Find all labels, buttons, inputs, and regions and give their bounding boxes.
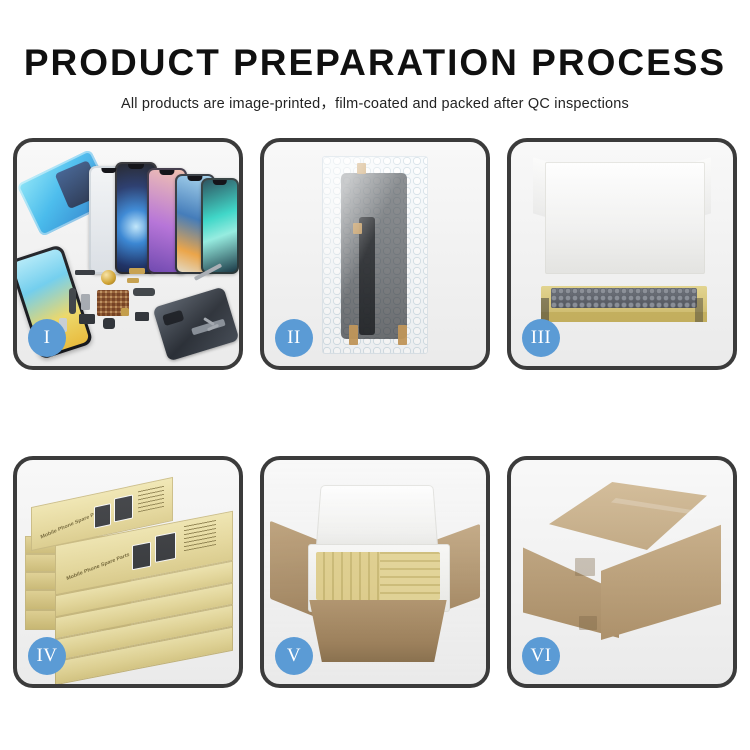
speaker-icon	[103, 318, 115, 329]
process-step-grid: I II	[13, 138, 737, 688]
bubble-wrap-bag-icon	[322, 156, 428, 354]
box-right-edge	[695, 298, 703, 322]
box-window-icon	[94, 503, 111, 529]
box-spec-lines	[184, 519, 216, 551]
product-preparation-infographic: PRODUCT PREPARATION PROCESS All products…	[0, 0, 750, 750]
step-badge-1: I	[28, 319, 66, 357]
flex-cable-icon	[69, 288, 76, 314]
inner-boxes-group	[316, 552, 440, 600]
white-foam-lid-icon	[545, 162, 705, 274]
tape-icon	[353, 223, 362, 234]
flex-cable-icon	[133, 288, 155, 296]
tape-icon	[398, 325, 407, 345]
box-spec-lines	[138, 485, 164, 513]
step-panel-1: I	[13, 138, 243, 370]
step-panel-5: V	[260, 456, 490, 688]
sealed-carton-icon	[523, 482, 721, 654]
step-badge-6: VI	[522, 637, 560, 675]
step-panel-3: III	[507, 138, 737, 370]
tape-icon	[349, 325, 358, 345]
part-icon	[121, 308, 129, 316]
inner-boxes-horizontal	[380, 552, 440, 600]
box-window-icon	[132, 542, 151, 571]
page-title: PRODUCT PREPARATION PROCESS	[0, 0, 750, 84]
wrapped-item-strip	[359, 217, 375, 335]
part-icon	[79, 314, 95, 324]
part-icon	[135, 312, 149, 321]
phone-fan-group	[89, 154, 239, 274]
tape-patch-icon	[579, 616, 597, 630]
step-badge-3: III	[522, 319, 560, 357]
page-subtitle: All products are image-printed，film-coat…	[0, 84, 750, 113]
phone-teal-icon	[201, 178, 239, 274]
inner-boxes-vertical	[316, 552, 380, 600]
step-badge-2: II	[275, 319, 313, 357]
header: PRODUCT PREPARATION PROCESS All products…	[0, 0, 750, 113]
dark-foam-filling-icon	[551, 288, 697, 308]
part-icon	[81, 294, 90, 310]
step-badge-5: V	[275, 637, 313, 675]
box-label: Mobile Phone Spare Parts	[66, 552, 130, 582]
part-icon	[75, 270, 95, 275]
step-panel-6: VI	[507, 456, 737, 688]
step-panel-4: Mobile Phone Spare Parts Mobile Phone Sp…	[13, 456, 243, 688]
box-front-edge	[541, 312, 707, 322]
tape-icon	[357, 163, 366, 174]
part-icon	[129, 268, 145, 274]
box-window-icon	[114, 494, 133, 522]
camera-module-icon	[101, 270, 116, 285]
step-panel-2: II	[260, 138, 490, 370]
tape-patch-icon	[575, 558, 595, 576]
phone-back-housing-icon	[152, 286, 239, 361]
carton-front-face	[300, 600, 456, 662]
step-badge-4: IV	[28, 637, 66, 675]
box-window-icon	[155, 532, 176, 563]
part-icon	[127, 278, 139, 283]
